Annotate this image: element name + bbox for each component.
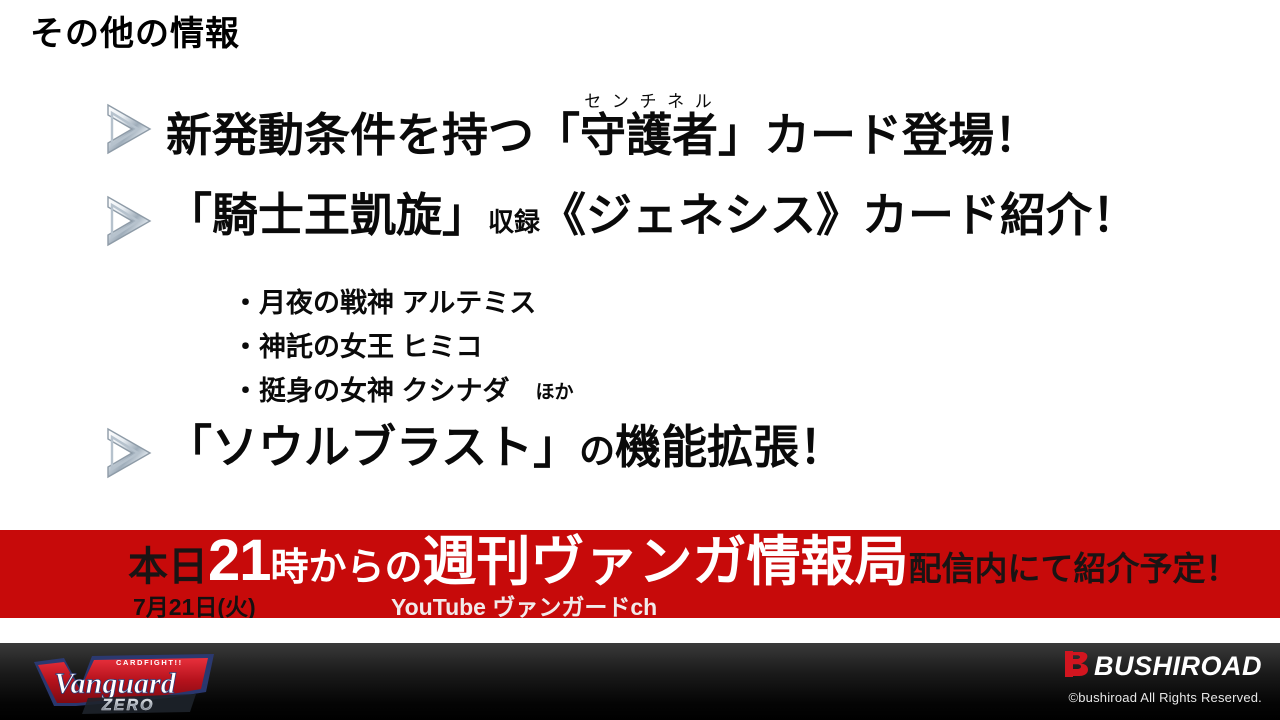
bullet-3-pre: 「ソウルブラスト」 (166, 421, 579, 473)
bullet-2-small: 収録 (488, 207, 540, 237)
banner-channel: YouTube ヴァンガードch (391, 588, 657, 618)
bushiroad-wordmark: BUSHIROAD (1094, 653, 1262, 680)
footer-bar: CARDFIGHT!! Vanguard ZERO BUSHIROAD ©bus… (0, 643, 1280, 720)
svg-text:ZERO: ZERO (101, 697, 154, 714)
banner-headline: 本日21時からの週刊ヴァンガ情報局配信内にて紹介予定！ (128, 532, 1239, 605)
sub-item-text: ・挺身の女神 クシナダ (232, 376, 510, 406)
bullet-item-1: 新発動条件を持つ「守護者センチネル」カード登場！ (0, 92, 1280, 166)
bullet-list: 新発動条件を持つ「守護者センチネル」カード登場！ 「騎 (0, 92, 1280, 253)
banner-lead: 本日 (128, 545, 208, 589)
sub-item-text: ・月夜の戦神 アルテミス (232, 288, 536, 318)
bullet-1-ruby: 守護者センチネル (580, 109, 718, 161)
bushiroad-logo: BUSHIROAD ©bushiroad All Rights Reserved… (1062, 649, 1262, 705)
list-item: ・神託の女王 ヒミコ (232, 326, 574, 370)
banner-hour-unit: 時からの (271, 547, 423, 589)
sub-item-note: ほか (536, 382, 574, 403)
card-sub-list: ・月夜の戦神 アルテミス ・神託の女王 ヒミコ ・挺身の女神 クシナダほか (232, 282, 574, 414)
bullet-text-1: 新発動条件を持つ「守護者センチネル」カード登場！ (166, 92, 1040, 166)
page-title: その他の情報 (30, 14, 240, 55)
bullet-text-3: 「ソウルブラスト」の機能拡張！ (166, 416, 845, 482)
bullet-1-ruby-base: 守護者 (580, 109, 718, 161)
bullet-1-ruby-text: センチネル (580, 92, 718, 111)
list-item: ・月夜の戦神 アルテミス (232, 282, 574, 326)
bullet-3-post: 機能拡張！ (615, 421, 845, 473)
announcement-banner: 本日21時からの週刊ヴァンガ情報局配信内にて紹介予定！ 7月21日(火) You… (0, 530, 1280, 618)
banner-program-name: 週刊ヴァンガ情報局 (423, 532, 909, 592)
copyright-text: ©bushiroad All Rights Reserved. (1062, 690, 1262, 705)
bullet-2-post: 《ジェネシス》カード紹介！ (540, 189, 1138, 241)
chrome-arrow-icon (98, 98, 160, 160)
svg-text:CARDFIGHT!!: CARDFIGHT!! (116, 658, 183, 667)
banner-hour-number: 21 (208, 530, 271, 593)
banner-tail: 配信内にて紹介予定！ (909, 550, 1239, 587)
bushiroad-b-mark-icon (1062, 649, 1092, 684)
bullet-3-mid: の (579, 430, 615, 471)
chrome-arrow-icon (98, 190, 160, 252)
bullet-2-pre: 「騎士王凱旋」 (166, 189, 488, 241)
bullet-item-3: 「ソウルブラスト」の機能拡張！ (0, 416, 1280, 484)
list-item: ・挺身の女神 クシナダほか (232, 370, 574, 414)
sub-item-text: ・神託の女王 ヒミコ (232, 332, 483, 362)
bullet-text-2: 「騎士王凱旋」収録《ジェネシス》カード紹介！ (166, 184, 1138, 253)
vanguard-zero-logo: CARDFIGHT!! Vanguard ZERO (18, 648, 228, 716)
bullet-item-2: 「騎士王凱旋」収録《ジェネシス》カード紹介！ (0, 184, 1280, 253)
bullet-1-post: 」カード登場！ (718, 109, 1040, 161)
banner-date: 7月21日(火) (133, 588, 256, 618)
chrome-arrow-icon (98, 422, 160, 484)
bullet-1-pre: 新発動条件を持つ「 (166, 109, 580, 161)
svg-text:Vanguard: Vanguard (54, 667, 177, 700)
